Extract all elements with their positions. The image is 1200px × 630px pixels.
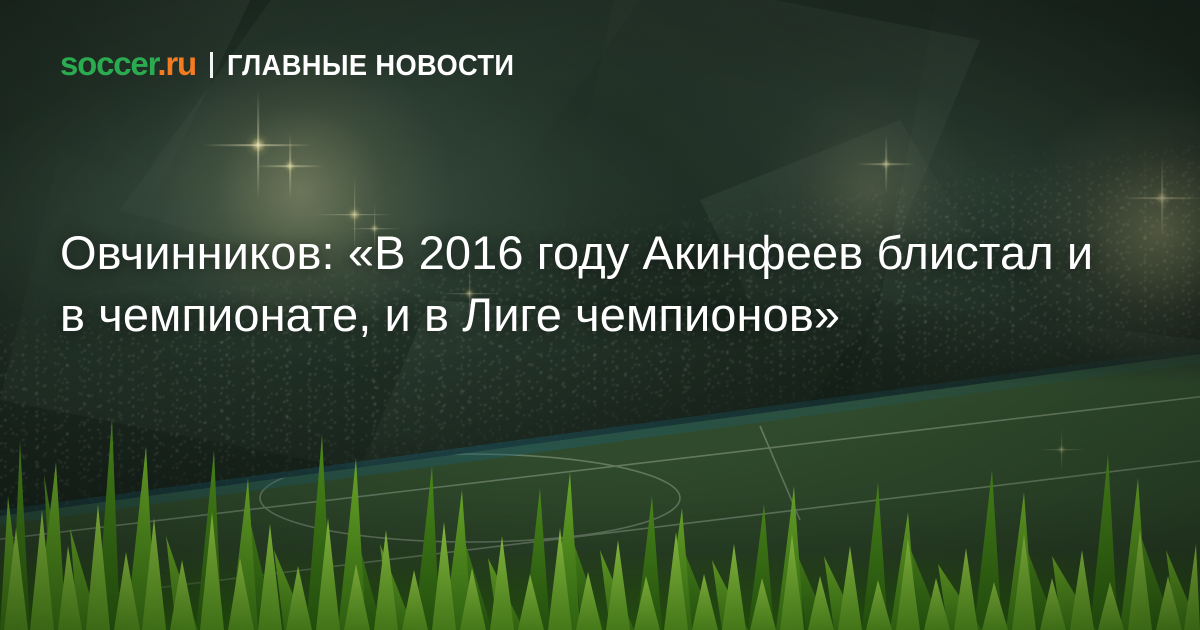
news-share-card: soccer.ru ГЛАВНЫЕ НОВОСТИ Овчинников: «В… [0, 0, 1200, 630]
masthead: soccer.ru ГЛАВНЫЕ НОВОСТИ [60, 47, 533, 81]
article-headline: Овчинников: «В 2016 году Акинфеев блиста… [60, 222, 1130, 346]
site-logo-suffix: .ru [157, 45, 196, 82]
site-logo[interactable]: soccer.ru [60, 47, 196, 80]
section-label: ГЛАВНЫЕ НОВОСТИ [227, 52, 514, 81]
card-content: soccer.ru ГЛАВНЫЕ НОВОСТИ Овчинников: «В… [0, 0, 1200, 630]
masthead-separator [210, 52, 213, 78]
site-logo-primary: soccer [60, 45, 157, 82]
